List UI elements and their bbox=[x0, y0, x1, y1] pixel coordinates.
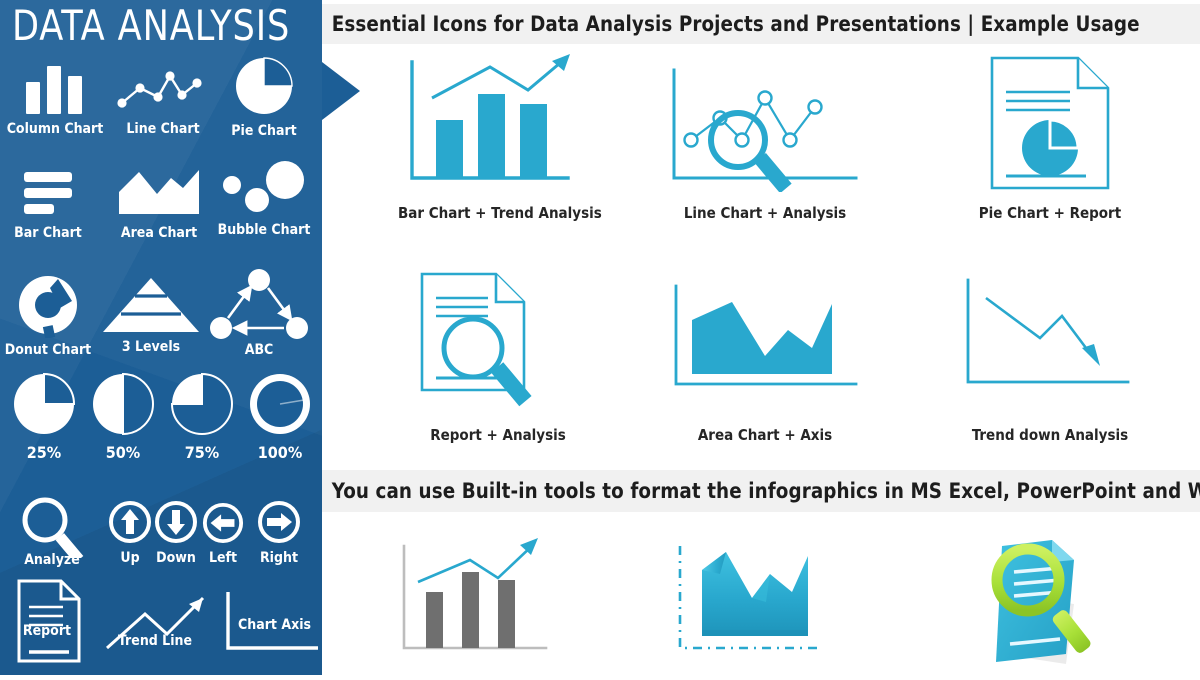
line-chart-icon bbox=[115, 58, 211, 114]
pyramid-3-levels-icon bbox=[101, 276, 201, 336]
sidebar-item-report[interactable]: Report bbox=[12, 578, 88, 664]
trend-down-analysis-icon bbox=[950, 268, 1150, 408]
magnifier-icon bbox=[14, 494, 90, 558]
bar-chart-trend-analysis-icon bbox=[398, 52, 598, 192]
example-trend-down-analysis[interactable]: Trend down Analysis bbox=[950, 268, 1150, 448]
sidebar-item-3-levels[interactable]: 3 Levels bbox=[96, 276, 206, 355]
sidebar-item-area-chart[interactable]: Area Chart bbox=[104, 164, 214, 241]
sidebar-item-label: Donut Chart bbox=[0, 343, 96, 358]
sidebar-item-label: Left bbox=[199, 551, 247, 566]
sidebar-item-label: Pie Chart bbox=[212, 124, 316, 139]
bubble-chart-icon bbox=[219, 160, 309, 218]
sidebar-item-label: Bubble Chart bbox=[208, 223, 320, 238]
sidebar-item-abc[interactable]: ABC bbox=[200, 266, 318, 358]
footer-item-document-magnifier[interactable] bbox=[970, 528, 1170, 675]
sidebar-title: DATA ANALYSIS bbox=[12, 2, 291, 50]
arrow-left-circle-icon bbox=[202, 502, 244, 544]
sidebar-item-label: Up bbox=[104, 551, 156, 566]
sidebar-item-trend-line[interactable]: Trend Line bbox=[100, 592, 224, 654]
sidebar-item-label: Report bbox=[12, 624, 82, 639]
sidebar-pointer-arrow bbox=[322, 62, 360, 120]
arrow-right-circle-icon bbox=[257, 500, 301, 544]
sidebar-item-label: 75% bbox=[162, 445, 242, 460]
sidebar-item-column-chart[interactable]: Column Chart bbox=[0, 58, 110, 137]
sidebar-item-line-chart[interactable]: Line Chart bbox=[108, 58, 218, 137]
pie-chart-report-icon bbox=[950, 52, 1150, 192]
sidebar-item-label: Trend Line bbox=[118, 634, 192, 649]
example-label: Trend down Analysis bbox=[950, 426, 1150, 444]
page-title: Essential Icons for Data Analysis Projec… bbox=[322, 12, 1140, 36]
column-chart-icon bbox=[22, 58, 88, 114]
sidebar-item-label: ABC bbox=[200, 343, 318, 358]
pie-75-percent-icon bbox=[170, 372, 234, 436]
sidebar-item-label: 100% bbox=[240, 445, 320, 460]
sidebar-item-bar-chart[interactable]: Bar Chart bbox=[0, 168, 96, 241]
pie-chart-icon bbox=[234, 56, 294, 114]
pie-25-percent-icon bbox=[12, 372, 76, 436]
footer-banner: You can use Built-in tools to format the… bbox=[322, 470, 1200, 512]
example-label: Area Chart + Axis bbox=[660, 426, 870, 444]
example-line-chart-analysis[interactable]: Line Chart + Analysis bbox=[660, 52, 870, 232]
donut-chart-icon bbox=[14, 272, 82, 338]
sidebar-item-label: 25% bbox=[4, 445, 84, 460]
sidebar-item-right[interactable]: Right bbox=[251, 500, 307, 566]
example-pie-chart-report[interactable]: Pie Chart + Report bbox=[950, 52, 1150, 232]
sidebar-item-label: Area Chart bbox=[104, 226, 214, 241]
grey-bar-chart-trend-icon bbox=[386, 530, 576, 675]
arrow-down-circle-icon bbox=[154, 500, 198, 544]
sidebar-item-50-percent[interactable]: 50% bbox=[83, 372, 163, 460]
example-report-analysis[interactable]: Report + Analysis bbox=[398, 268, 598, 448]
sidebar-item-label: Line Chart bbox=[108, 122, 218, 137]
example-bar-chart-trend[interactable]: Bar Chart + Trend Analysis bbox=[398, 52, 598, 232]
bar-chart-icon bbox=[20, 168, 76, 218]
sidebar-item-label: Column Chart bbox=[0, 122, 110, 137]
sidebar-item-chart-axis[interactable]: Chart Axis bbox=[222, 590, 322, 660]
document-magnifier-3d-icon bbox=[970, 528, 1170, 675]
example-label: Report + Analysis bbox=[398, 426, 598, 444]
sidebar-item-label: Down bbox=[150, 551, 202, 566]
area-chart-icon bbox=[117, 164, 201, 218]
sidebar-item-100-percent[interactable]: 100% bbox=[240, 372, 320, 460]
infographic-page: DATA ANALYSIS Column Chart Line Chart Pi… bbox=[0, 0, 1200, 675]
sidebar-item-75-percent[interactable]: 75% bbox=[162, 372, 242, 460]
footer-title: You can use Built-in tools to format the… bbox=[322, 479, 1200, 503]
sidebar-item-label: Analyze bbox=[0, 553, 104, 568]
sidebar-item-pie-chart[interactable]: Pie Chart bbox=[212, 56, 316, 139]
footer-item-grey-bar-chart[interactable] bbox=[386, 530, 576, 675]
footer-item-area-chart-3d[interactable] bbox=[662, 530, 872, 675]
sidebar-item-left[interactable]: Left bbox=[199, 502, 247, 566]
example-area-chart-axis[interactable]: Area Chart + Axis bbox=[660, 268, 870, 448]
abc-cycle-diagram-icon bbox=[206, 266, 312, 342]
pie-50-percent-icon bbox=[91, 372, 155, 436]
arrow-up-circle-icon bbox=[108, 500, 152, 544]
report-document-icon bbox=[15, 578, 85, 664]
sidebar-item-label: 50% bbox=[83, 445, 163, 460]
sidebar-item-25-percent[interactable]: 25% bbox=[4, 372, 84, 460]
area-chart-axis-icon bbox=[660, 268, 870, 408]
example-label: Line Chart + Analysis bbox=[660, 204, 870, 222]
sidebar-item-down[interactable]: Down bbox=[150, 500, 202, 566]
example-label: Bar Chart + Trend Analysis bbox=[398, 204, 598, 222]
report-analysis-icon bbox=[398, 268, 598, 408]
line-chart-analysis-icon bbox=[660, 52, 870, 192]
pie-100-percent-icon bbox=[248, 372, 312, 436]
sidebar-item-bubble-chart[interactable]: Bubble Chart bbox=[208, 160, 320, 238]
example-label: Pie Chart + Report bbox=[950, 204, 1150, 222]
sidebar-item-analyze[interactable]: Analyze bbox=[0, 494, 104, 568]
sidebar-item-label: 3 Levels bbox=[96, 340, 206, 355]
area-chart-3d-dashed-axis-icon bbox=[662, 530, 872, 675]
sidebar-item-label: Chart Axis bbox=[238, 618, 311, 633]
sidebar-item-label: Bar Chart bbox=[0, 226, 96, 241]
sidebar-item-label: Right bbox=[251, 551, 307, 566]
sidebar-item-donut-chart[interactable]: Donut Chart bbox=[0, 272, 96, 358]
header-banner: Essential Icons for Data Analysis Projec… bbox=[322, 4, 1200, 44]
sidebar-item-up[interactable]: Up bbox=[104, 500, 156, 566]
